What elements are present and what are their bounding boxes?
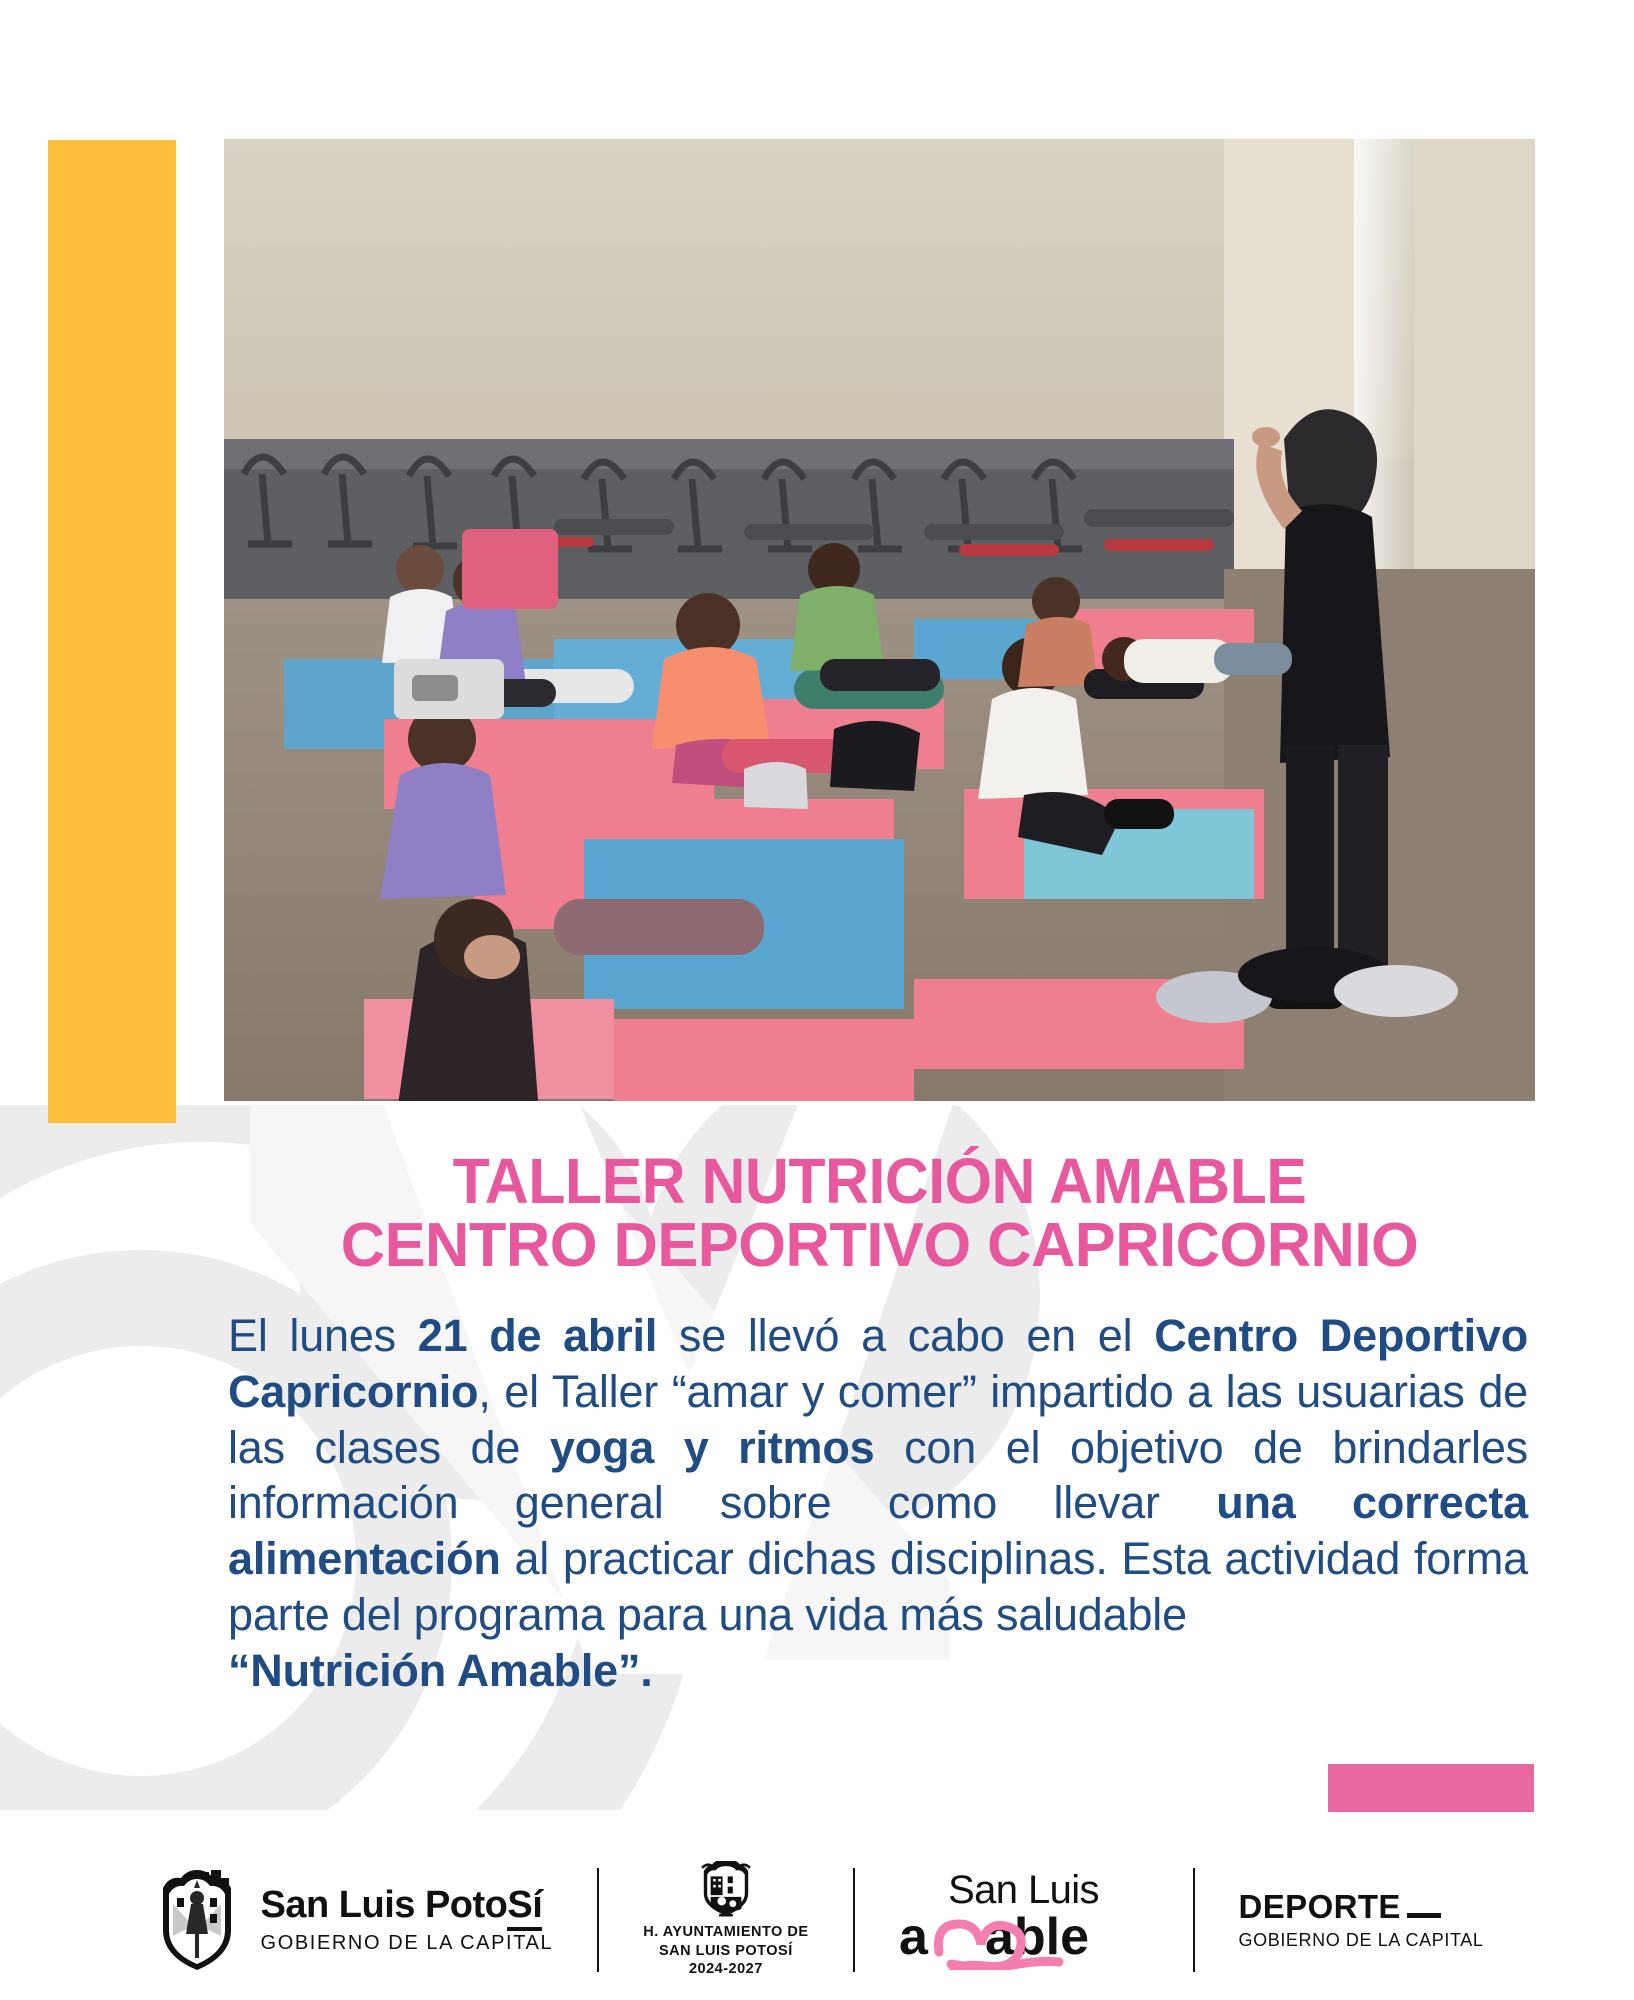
pink-accent-block [1328,1764,1534,1812]
slp-title-underlined: Sí [507,1884,542,1931]
ayuntamiento-line-1: H. AYUNTAMIENTO DE [643,1923,808,1942]
footer-divider-3 [1193,1868,1195,1972]
ayuntamiento-shield-icon [694,1861,758,1917]
amable-logo-line-1: San Luis [948,1870,1099,1910]
footer-divider-2 [853,1868,855,1972]
ayuntamiento-logo: H. AYUNTAMIENTO DE SAN LUIS POTOSÍ 2024-… [643,1861,808,1979]
body-paragraph-last-line: “Nutrición Amable”. [228,1643,1528,1699]
workshop-photo [224,139,1535,1101]
body-segment-2: se llevó a cabo en el [657,1310,1154,1361]
ayuntamiento-line-3: 2024-2027 [643,1960,808,1979]
deporte-underscore-mark [1407,1913,1441,1918]
body-paragraph-text: El lunes 21 de abril se llevó a cabo en … [228,1310,1528,1640]
footer-logo-bar: San Luis PotoSí GOBIERNO DE LA CAPITAL H… [0,1840,1634,2000]
ayuntamiento-logo-text: H. AYUNTAMIENTO DE SAN LUIS POTOSÍ 2024-… [643,1923,808,1979]
page-title: TALLER NUTRICIÓN AMABLE [257,1150,1502,1213]
san-luis-amable-logo: San Luis a able [899,1861,1149,1979]
title-block: TALLER NUTRICIÓN AMABLE CENTRO DEPORTIVO… [224,1150,1535,1277]
deporte-logo: DEPORTE GOBIERNO DE LA CAPITAL [1239,1861,1484,1979]
ayuntamiento-line-2: SAN LUIS POTOSÍ [643,1942,808,1961]
page-subtitle: CENTRO DEPORTIVO CAPRICORNIO [231,1215,1529,1277]
body-paragraph: El lunes 21 de abril se llevó a cabo en … [228,1308,1528,1699]
slp-logo-title: San Luis PotoSí [261,1886,543,1924]
amable-heart-icon: a able [899,1908,1149,1970]
footer-divider-1 [597,1868,599,1972]
deporte-title-text: DEPORTE [1239,1890,1401,1923]
coat-of-arms-icon [151,1864,243,1976]
deporte-logo-subtitle: GOBIERNO DE LA CAPITAL [1239,1930,1484,1951]
deporte-logo-title: DEPORTE [1239,1890,1441,1923]
body-last-line-bold: “Nutrición Amable”. [228,1645,653,1696]
body-segment-5: yoga y ritmos [550,1422,875,1473]
body-segment-0: El lunes [228,1310,418,1361]
san-luis-potosi-government-logo: San Luis PotoSí GOBIERNO DE LA CAPITAL [151,1861,554,1979]
amable-logo-line-2: a able [899,1908,1149,1970]
slp-title-plain: San Luis Poto [261,1884,508,1926]
svg-text:a: a [899,1908,929,1966]
slp-logo-subtitle: GOBIERNO DE LA CAPITAL [261,1932,554,1955]
body-segment-1: 21 de abril [418,1310,657,1361]
yellow-accent-bar [48,140,176,1123]
